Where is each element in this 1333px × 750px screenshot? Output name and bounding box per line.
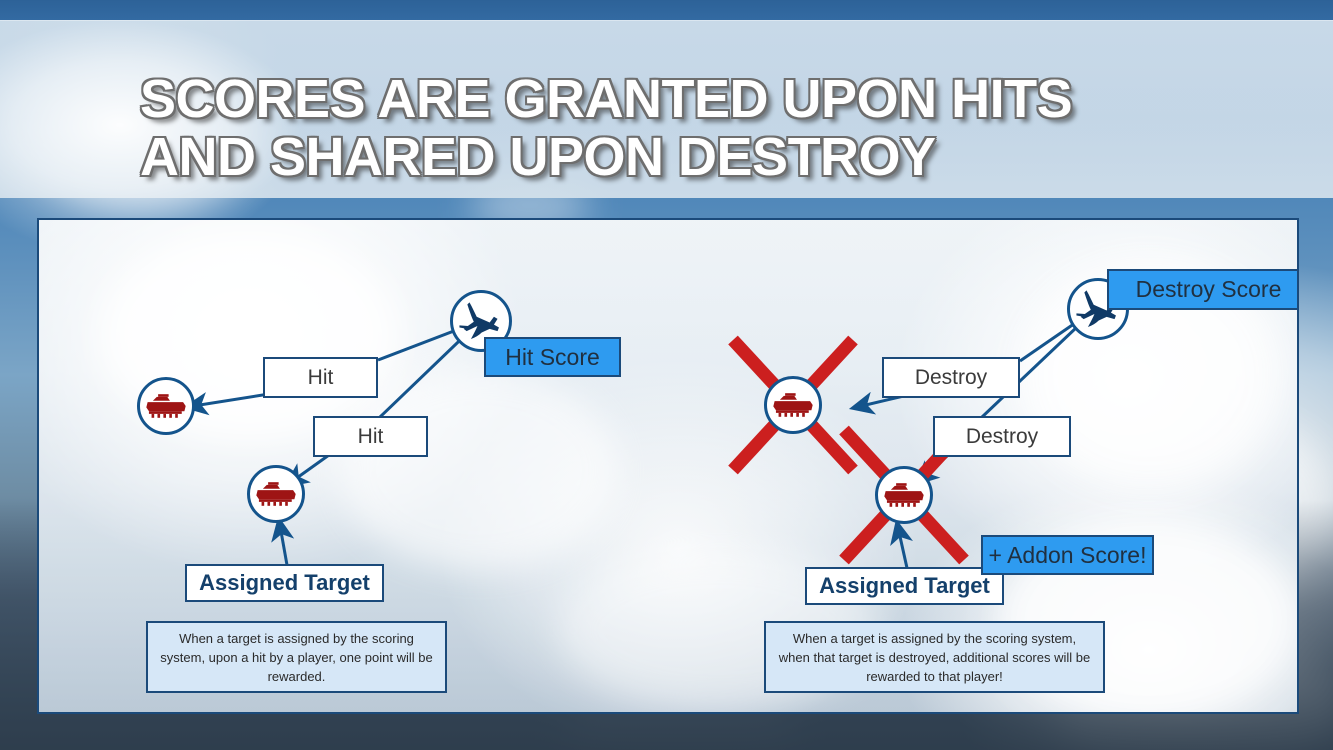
target-node-left-lower[interactable] (247, 465, 305, 523)
header-band: SCORES ARE GRANTED UPON HITS AND SHARED … (0, 20, 1333, 198)
destroy-label-lower[interactable]: Destroy (933, 416, 1071, 457)
destroy-label-upper[interactable]: Destroy (882, 357, 1020, 398)
top-accent-strip (0, 0, 1333, 20)
arrow-assigned-target-left (279, 520, 287, 565)
hit-label-lower-text: Hit (358, 425, 384, 449)
caption-right-text: When a target is assigned by the scoring… (776, 629, 1093, 686)
page-title: SCORES ARE GRANTED UPON HITS AND SHARED … (140, 70, 1260, 186)
addon-score-badge-label: + Addon Score! (989, 542, 1147, 569)
assigned-target-label-right[interactable]: Assigned Target (805, 567, 1004, 605)
assigned-target-label-left-text: Assigned Target (199, 570, 370, 596)
caption-left-text: When a target is assigned by the scoring… (158, 629, 435, 686)
target-node-left-upper[interactable] (137, 377, 195, 435)
destroy-score-badge-label: Destroy Score (1136, 276, 1282, 303)
hit-label-upper-text: Hit (308, 366, 334, 390)
slide-root: SCORES ARE GRANTED UPON HITS AND SHARED … (0, 0, 1333, 750)
destroy-label-upper-text: Destroy (915, 366, 987, 390)
arrow-assigned-target-right (897, 523, 907, 568)
hit-score-badge[interactable]: Hit Score (484, 337, 621, 377)
addon-score-badge[interactable]: + Addon Score! (981, 535, 1154, 575)
destroy-label-lower-text: Destroy (966, 425, 1038, 449)
arrow-hit1-target (187, 394, 269, 407)
armored-vehicle-icon (145, 391, 187, 421)
content-frame: Hit Score Hit Hit Assigned Target When a… (37, 218, 1299, 714)
destroyed-target-node-upper[interactable] (764, 376, 822, 434)
armored-vehicle-icon (883, 480, 925, 510)
destroy-score-badge[interactable]: Destroy Score (1107, 269, 1299, 310)
caption-left: When a target is assigned by the scoring… (146, 621, 447, 693)
hit-label-lower[interactable]: Hit (313, 416, 428, 457)
assigned-target-label-right-text: Assigned Target (819, 573, 990, 599)
hit-label-upper[interactable]: Hit (263, 357, 378, 398)
armored-vehicle-icon (255, 479, 297, 509)
caption-right: When a target is assigned by the scoring… (764, 621, 1105, 693)
armored-vehicle-icon (772, 390, 814, 420)
destroyed-target-node-lower[interactable] (875, 466, 933, 524)
hit-score-badge-label: Hit Score (505, 344, 600, 371)
assigned-target-label-left[interactable]: Assigned Target (185, 564, 384, 602)
